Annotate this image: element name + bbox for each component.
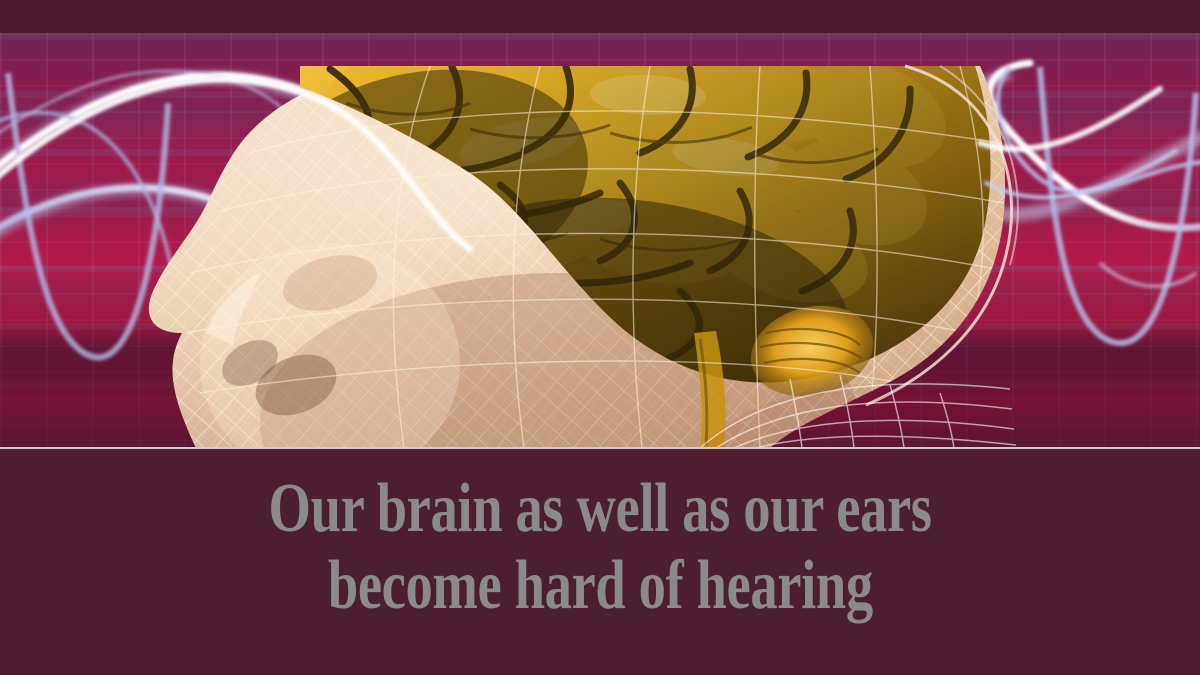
wireframe-head-with-brain-icon: [0, 33, 1200, 448]
caption-band: Our brain as well as our ears become har…: [0, 449, 1200, 675]
hero-illustration: [0, 33, 1200, 448]
top-banner-band: [0, 0, 1200, 33]
caption-line-1: Our brain as well as our ears: [268, 471, 931, 546]
caption-line-2: become hard of hearing: [328, 548, 873, 623]
slide-canvas: Our brain as well as our ears become har…: [0, 0, 1200, 675]
